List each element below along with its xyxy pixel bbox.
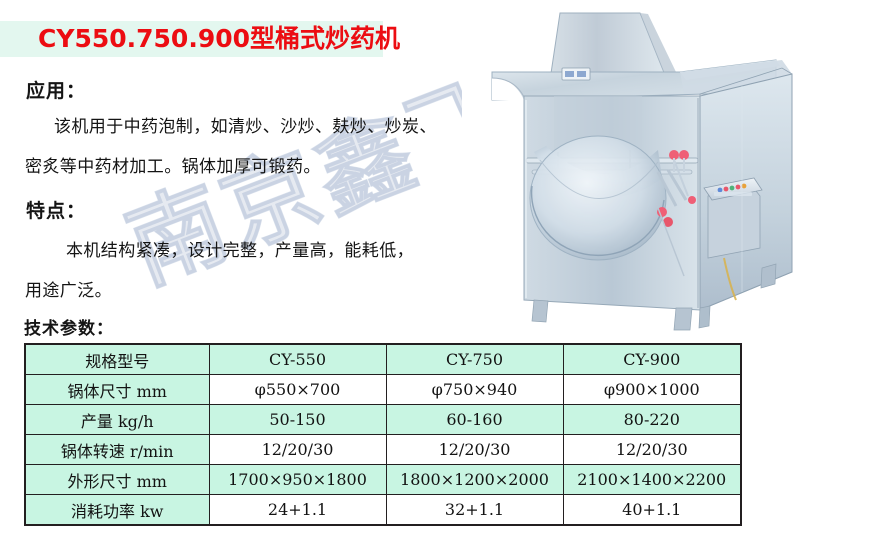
cell: φ750×940 bbox=[386, 375, 563, 405]
spec-table-body: 规格型号 CY-550 CY-750 CY-900 锅体尺寸 mm φ550×7… bbox=[25, 344, 741, 525]
cell: 80-220 bbox=[563, 405, 741, 435]
row-label: 外形尺寸 mm bbox=[25, 465, 209, 495]
machine-illustration bbox=[462, 0, 880, 337]
cell: φ900×1000 bbox=[563, 375, 741, 405]
features-heading: 特点： bbox=[26, 196, 86, 223]
product-photo bbox=[462, 0, 880, 337]
spec-table: 规格型号 CY-550 CY-750 CY-900 锅体尺寸 mm φ550×7… bbox=[24, 343, 742, 526]
application-line-1: 该机用于中药泡制，如清炒、沙炒、麸炒、炒炭、 bbox=[54, 112, 437, 137]
table-row: 锅体尺寸 mm φ550×700 φ750×940 φ900×1000 bbox=[25, 375, 741, 405]
features-line-1: 本机结构紧凑，设计完整，产量高，能耗低， bbox=[66, 236, 414, 261]
row-label: 锅体转速 r/min bbox=[25, 435, 209, 465]
cell: 50-150 bbox=[209, 405, 386, 435]
cell: 12/20/30 bbox=[209, 435, 386, 465]
cell: CY-900 bbox=[563, 344, 741, 375]
cell: 1800×1200×2000 bbox=[386, 465, 563, 495]
row-label: 消耗功率 kw bbox=[25, 495, 209, 526]
cell: CY-550 bbox=[209, 344, 386, 375]
cell: 24+1.1 bbox=[209, 495, 386, 526]
cell: 1700×950×1800 bbox=[209, 465, 386, 495]
cell: 2100×1400×2200 bbox=[563, 465, 741, 495]
cell: 32+1.1 bbox=[386, 495, 563, 526]
features-line-2: 用途广泛。 bbox=[25, 276, 112, 301]
row-label: 规格型号 bbox=[25, 344, 209, 375]
application-line-2: 密炙等中药材加工。锅体加厚可锻药。 bbox=[25, 152, 321, 177]
cell: φ550×700 bbox=[209, 375, 386, 405]
table-row: 消耗功率 kw 24+1.1 32+1.1 40+1.1 bbox=[25, 495, 741, 526]
table-row: 产量 kg/h 50-150 60-160 80-220 bbox=[25, 405, 741, 435]
cell: CY-750 bbox=[386, 344, 563, 375]
cell: 60-160 bbox=[386, 405, 563, 435]
cell: 12/20/30 bbox=[563, 435, 741, 465]
table-row: 规格型号 CY-550 CY-750 CY-900 bbox=[25, 344, 741, 375]
cell: 12/20/30 bbox=[386, 435, 563, 465]
product-spec-page: 南京鑫飞干燥设备 CY550.750.900型桶式炒药机 应用： 该机用于中药泡… bbox=[0, 0, 880, 537]
cell: 40+1.1 bbox=[563, 495, 741, 526]
table-row: 锅体转速 r/min 12/20/30 12/20/30 12/20/30 bbox=[25, 435, 741, 465]
table-row: 外形尺寸 mm 1700×950×1800 1800×1200×2000 210… bbox=[25, 465, 741, 495]
row-label: 锅体尺寸 mm bbox=[25, 375, 209, 405]
specs-heading: 技术参数： bbox=[24, 314, 114, 339]
page-title: CY550.750.900型桶式炒药机 bbox=[38, 20, 383, 58]
row-label: 产量 kg/h bbox=[25, 405, 209, 435]
application-heading: 应用： bbox=[26, 76, 86, 103]
